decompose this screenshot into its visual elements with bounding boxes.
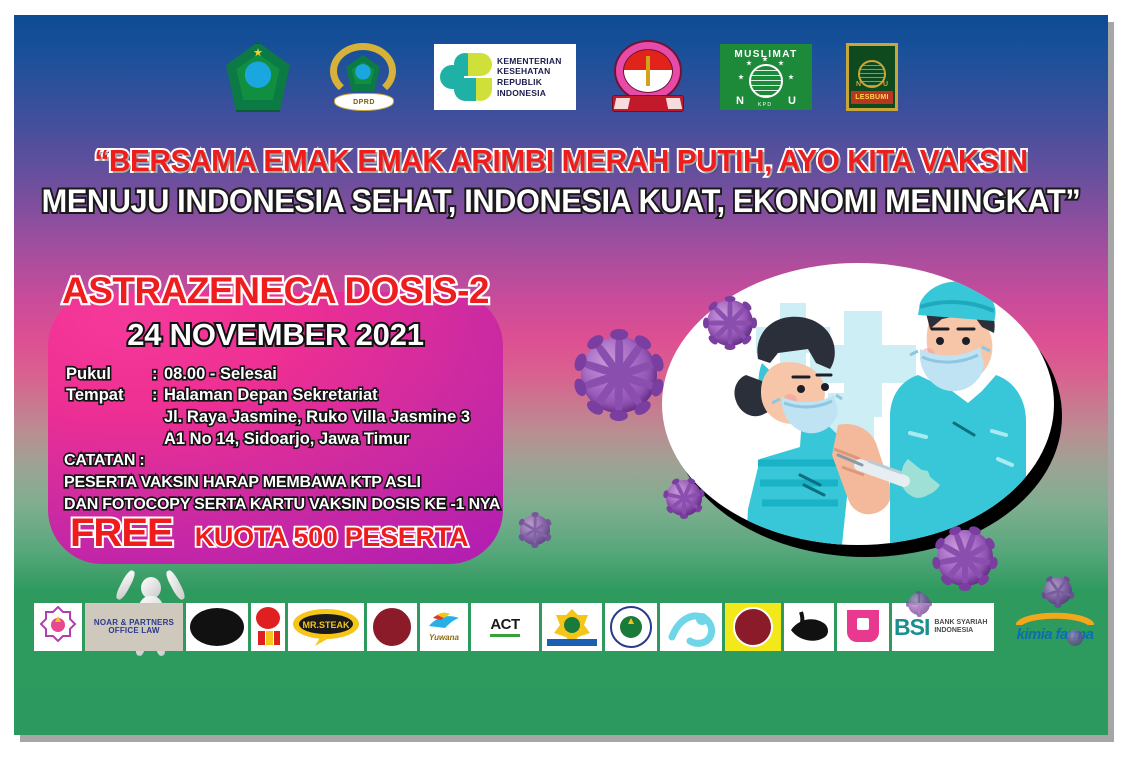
lantern-icon — [253, 605, 283, 649]
muslimat-u-label: U — [788, 95, 796, 107]
sponsor-cyan-calligraphy-logo — [660, 603, 722, 651]
sponsor-maroon-circle-logo — [367, 603, 417, 651]
virus-particle-icon — [902, 587, 936, 621]
kimia-farma-arc-icon — [1015, 611, 1095, 625]
detail-label: Pukul — [66, 364, 152, 385]
crest-icon — [545, 605, 599, 649]
poster-container: DPRD KEMENTERIAN KESEHATAN REPUBLIK INDO… — [14, 15, 1108, 735]
yuwana-bird-icon — [427, 612, 461, 632]
fish-icon — [787, 608, 831, 646]
virus-particle-icon — [922, 515, 1008, 601]
quota-label: KUOTA 500 PESERTA — [195, 522, 468, 553]
top-logo-row: DPRD KEMENTERIAN KESEHATAN REPUBLIK INDO… — [14, 37, 1108, 117]
lesbumi-label: LESBUMI — [851, 91, 893, 104]
slogan-line-2: MENUJU INDONESIA SEHAT, INDONESIA KUAT, … — [36, 181, 1086, 221]
free-label: FREE — [70, 511, 173, 556]
sponsor-pink-square-logo — [837, 603, 889, 651]
sponsor-name: NOAR & PARTNERS OFFICE LAW — [87, 619, 181, 636]
virus-particle-icon — [559, 315, 679, 435]
mr-steak-icon: MR.STEAK — [291, 606, 361, 648]
virus-particle-icon — [1062, 625, 1088, 651]
muslimat-kpd-label: K P D — [758, 102, 771, 108]
detail-label: Tempat — [66, 385, 152, 406]
kemenkes-logo-icon: KEMENTERIAN KESEHATAN REPUBLIK INDONESIA — [434, 44, 576, 110]
sponsor-name: MR.STEAK — [303, 620, 351, 630]
lesbumi-u-label: U — [883, 81, 888, 88]
dprd-seal-icon: DPRD — [326, 41, 400, 113]
sponsor-black-fish-logo — [784, 603, 834, 651]
note-line: PESERTA VAKSIN HARAP MEMBAWA KTP ASLI — [64, 472, 500, 494]
address-line: A1 No 14, Sidoarjo, Jawa Timur — [164, 428, 493, 450]
muslimat-n-label: N — [736, 95, 744, 107]
lesbumi-logo-icon: N U LESBUMI — [846, 43, 898, 111]
sponsor-mr-steak-logo: MR.STEAK — [288, 603, 364, 651]
event-info-panel: ASTRAZENECA DOSIS-2 24 NOVEMBER 2021 Puk… — [48, 292, 503, 564]
detail-row: Pukul : 08.00 - Selesai — [66, 364, 493, 385]
poster: DPRD KEMENTERIAN KESEHATAN REPUBLIK INDO… — [14, 15, 1108, 735]
calligraphy-icon — [664, 607, 718, 647]
free-quota-row: FREE KUOTA 500 PESERTA — [70, 511, 468, 556]
pink-square-icon — [841, 606, 885, 648]
note-heading: CATATAN : — [64, 450, 500, 472]
arimbi-star-icon — [37, 606, 79, 648]
sponsor-yuwana-logo: Yuwana — [420, 603, 468, 651]
sponsor-red-lantern-logo — [251, 603, 285, 651]
sponsor-subtitle: BANK SYARIAH INDONESIA — [934, 619, 992, 635]
slogan-block: “BERSAMA EMAK EMAK ARIMBI MERAH PUTIH, A… — [14, 141, 1108, 221]
sponsor-yellow-warung-logo — [725, 603, 781, 651]
virus-particle-icon — [512, 507, 558, 553]
vaccine-title: ASTRAZENECA DOSIS-2 — [48, 270, 503, 312]
sponsor-arimbi-star-logo — [34, 603, 82, 651]
sponsor-name: ACT — [490, 617, 519, 633]
sponsor-name: Yuwana — [427, 634, 461, 642]
arimbi-merah-putih-logo-icon — [610, 40, 686, 114]
sponsor-noar-partners-logo: NOAR & PARTNERS OFFICE LAW — [85, 603, 183, 651]
virus-particle-icon — [656, 470, 712, 526]
sponsor-act-logo: ACT — [471, 603, 539, 651]
event-date: 24 NOVEMBER 2021 — [48, 317, 503, 353]
event-details: Pukul : 08.00 - Selesai Tempat : Halaman… — [66, 364, 493, 450]
kemenkes-text: KEMENTERIAN KESEHATAN REPUBLIK INDONESIA — [497, 56, 562, 99]
lesbumi-n-label: N — [856, 81, 861, 88]
detail-value: Halaman Depan Sekretariat — [164, 385, 378, 406]
kemenkes-mark-icon — [440, 53, 492, 101]
address-line: Jl. Raya Jasmine, Ruko Villa Jasmine 3 — [164, 406, 493, 428]
detail-row: Tempat : Halaman Depan Sekretariat — [66, 385, 493, 406]
slogan-line-1: “BERSAMA EMAK EMAK ARIMBI MERAH PUTIH, A… — [36, 141, 1086, 181]
cappro-icon — [608, 605, 654, 649]
detail-separator: : — [152, 385, 164, 406]
virus-particle-icon — [694, 287, 766, 359]
sponsor-cappro-logo — [605, 603, 657, 651]
detail-value: 08.00 - Selesai — [164, 364, 277, 385]
sponsor-black-oval-logo — [186, 603, 248, 651]
muslimat-nu-logo-icon: MUSLIMAT N U K P D — [720, 44, 812, 110]
dprd-ribbon-label: DPRD — [334, 93, 394, 111]
note-block: CATATAN : PESERTA VAKSIN HARAP MEMBAWA K… — [64, 450, 500, 516]
sponsor-crest-logo — [542, 603, 602, 651]
detail-separator: : — [152, 364, 164, 385]
virus-particle-icon — [1036, 569, 1080, 613]
pemerintah-kabupaten-sidoarjo-seal-icon — [224, 42, 292, 112]
